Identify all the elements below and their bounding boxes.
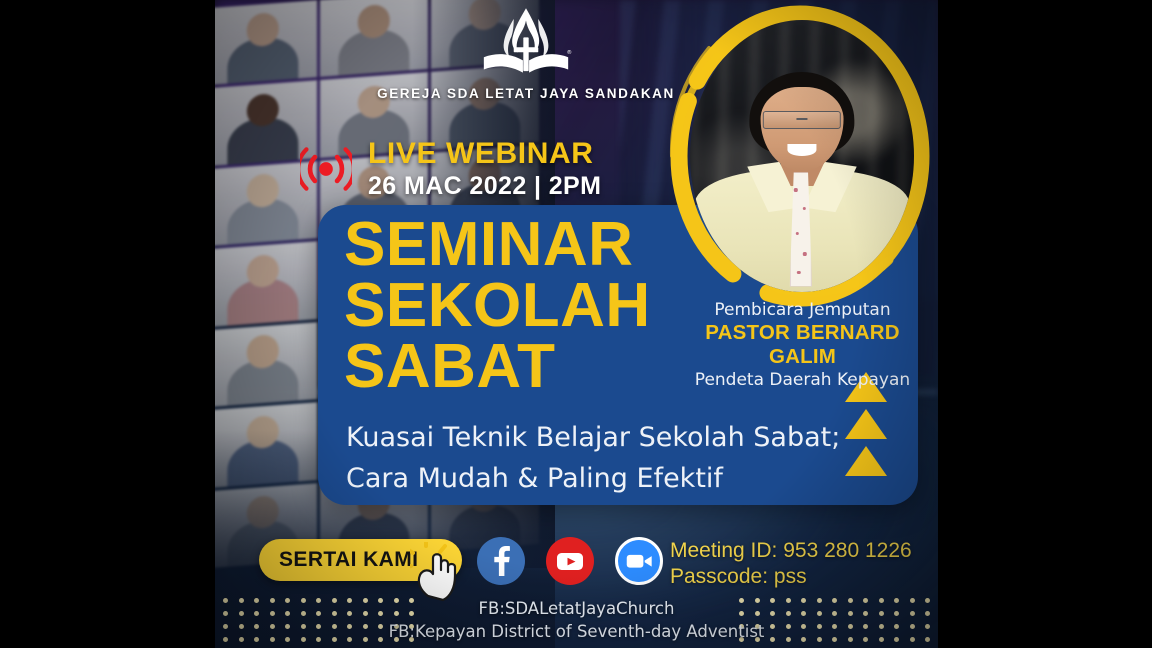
meeting-passcode: Passcode: pss [670, 564, 912, 590]
triangle-icon [845, 446, 887, 476]
page-subtitle: Kuasai Teknik Belajar Sekolah Sabat; Car… [346, 417, 886, 499]
speaker-portrait-image [690, 20, 914, 292]
subtitle-line-1: Kuasai Teknik Belajar Sekolah Sabat; [346, 417, 886, 458]
facebook-icon[interactable] [477, 537, 525, 585]
speaker-district: Pendeta Daerah Kepayan [675, 370, 930, 390]
adventist-flame-book-logo-icon: ® [480, 6, 572, 84]
footer-line-2: FB:Kepayan District of Seventh-day Adven… [215, 620, 938, 643]
click-hand-icon [410, 542, 474, 604]
footer-links: FB:SDALetatJayaChurch FB:Kepayan Distric… [215, 597, 938, 644]
svg-text:®: ® [567, 49, 572, 56]
live-datetime: 26 MAC 2022 | 2PM [368, 172, 601, 201]
live-label: LIVE WEBINAR [368, 138, 601, 170]
poster-canvas: ® GEREJA SDA LETAT JAYA SANDAKAN LIVE WE… [0, 0, 1152, 648]
speaker-name: PASTOR BERNARD GALIM [675, 321, 930, 369]
live-broadcast-icon [300, 146, 352, 192]
zoom-icon[interactable] [615, 537, 663, 585]
youtube-glyph [546, 537, 594, 585]
speaker-photo [665, 4, 935, 309]
footer-line-1: FB:SDALetatJayaChurch [215, 597, 938, 620]
youtube-icon[interactable] [546, 537, 594, 585]
facebook-glyph [477, 537, 525, 585]
triangle-icon [845, 409, 887, 439]
brand-logo: ® GEREJA SDA LETAT JAYA SANDAKAN [376, 6, 676, 101]
live-webinar-block: LIVE WEBINAR 26 MAC 2022 | 2PM [300, 138, 601, 200]
zoom-camera-glyph [618, 540, 660, 582]
speaker-role: Pembicara Jemputan [675, 300, 930, 320]
portrait-eyeglasses [763, 111, 841, 129]
speaker-caption: Pembicara Jemputan PASTOR BERNARD GALIM … [675, 300, 930, 390]
meeting-info: Meeting ID: 953 280 1226 Passcode: pss [670, 538, 912, 589]
webinar-poster: ® GEREJA SDA LETAT JAYA SANDAKAN LIVE WE… [215, 0, 938, 648]
subtitle-line-2: Cara Mudah & Paling Efektif [346, 458, 886, 499]
meeting-id: Meeting ID: 953 280 1226 [670, 538, 912, 564]
brand-name: GEREJA SDA LETAT JAYA SANDAKAN [376, 86, 676, 101]
